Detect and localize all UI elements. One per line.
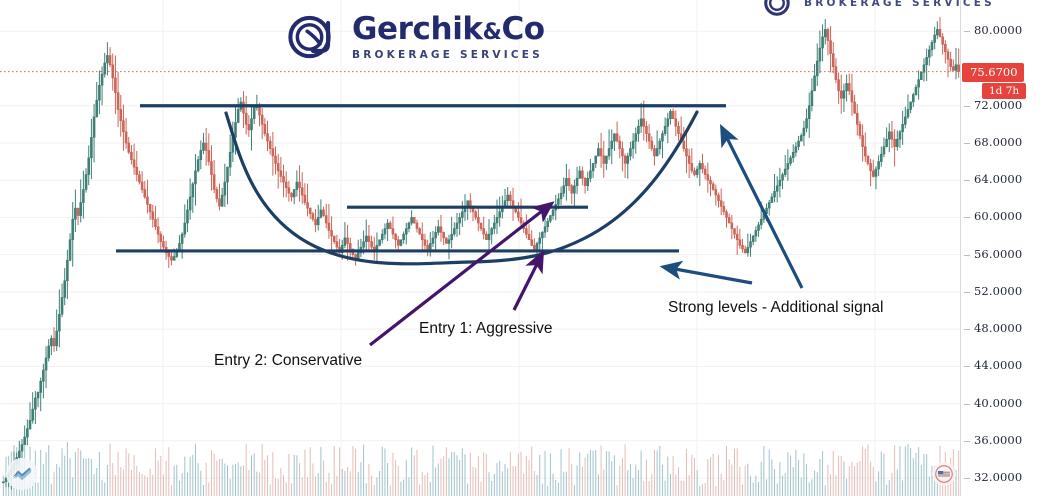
rounded-bottom-curve[interactable] <box>226 112 697 264</box>
price-tick-label: 48.0000 <box>974 321 1022 335</box>
brand-tagline: BROKERAGE SERVICES <box>352 50 545 61</box>
brand-name: Gerchik&Co <box>352 14 545 45</box>
annotation-entry-2: Entry 2: Conservative <box>214 352 362 370</box>
gerchik-monogram-icon <box>284 8 342 66</box>
price-axis[interactable]: 80.000072.000068.000064.000060.000056.00… <box>960 0 1049 496</box>
trading-chart-screenshot: Gerchik&Co BROKERAGE SERVICES BROKERAGE … <box>0 0 1049 496</box>
price-tick-dash <box>964 366 970 367</box>
support-resistance-levels[interactable] <box>116 106 726 251</box>
price-tick-label: 60.0000 <box>974 209 1022 223</box>
price-tick-dash <box>964 478 970 479</box>
price-tick-label: 68.0000 <box>974 135 1022 149</box>
price-tick-dash <box>964 217 970 218</box>
price-tick-label: 72.0000 <box>974 98 1022 112</box>
price-tick-label: 64.0000 <box>974 172 1022 186</box>
signal-arrows[interactable] <box>664 128 802 288</box>
countdown-tag[interactable]: 1d 7h <box>982 83 1026 99</box>
price-tick-label: 40.0000 <box>974 396 1022 410</box>
price-tick-dash <box>964 106 970 107</box>
gerchik-monogram-icon <box>762 0 796 20</box>
price-tick-dash <box>964 255 970 256</box>
annotation-entry-1: Entry 1: Aggressive <box>419 320 553 338</box>
price-tick-label: 80.0000 <box>974 23 1022 37</box>
price-tick-label: 52.0000 <box>974 284 1022 298</box>
chart-drawings-layer[interactable] <box>0 0 1049 496</box>
price-tick-label: 44.0000 <box>974 358 1022 372</box>
price-axis-divider <box>960 0 961 496</box>
price-tick-dash <box>964 329 970 330</box>
price-tick-dash <box>964 143 970 144</box>
price-tick-label: 32.0000 <box>974 470 1022 484</box>
price-tick-dash <box>964 292 970 293</box>
price-tick-dash <box>964 31 970 32</box>
brand-name-part1: Gerchik <box>352 11 483 47</box>
price-tick-dash <box>964 404 970 405</box>
annotation-strong-levels: Strong levels - Additional signal <box>668 299 883 317</box>
brand-ampersand: & <box>483 20 502 45</box>
price-tick-label: 36.0000 <box>974 433 1022 447</box>
price-tick-dash <box>964 441 970 442</box>
gerchik-logo: Gerchik&Co BROKERAGE SERVICES <box>284 8 545 66</box>
signal-arrow-upper <box>722 128 802 288</box>
tradingview-wave-badge-icon <box>11 463 33 485</box>
tradingview-badge[interactable] <box>6 458 38 490</box>
signal-arrow-lower <box>664 267 752 283</box>
price-tick-label: 56.0000 <box>974 247 1022 261</box>
entry-1-arrow <box>514 254 542 310</box>
current-price-tag[interactable]: 75.6700 <box>962 63 1024 82</box>
brand-name-part2: Co <box>501 11 544 47</box>
flag-badge[interactable] <box>932 462 956 486</box>
us-flag-badge-icon <box>935 465 953 483</box>
price-tick-dash <box>964 180 970 181</box>
